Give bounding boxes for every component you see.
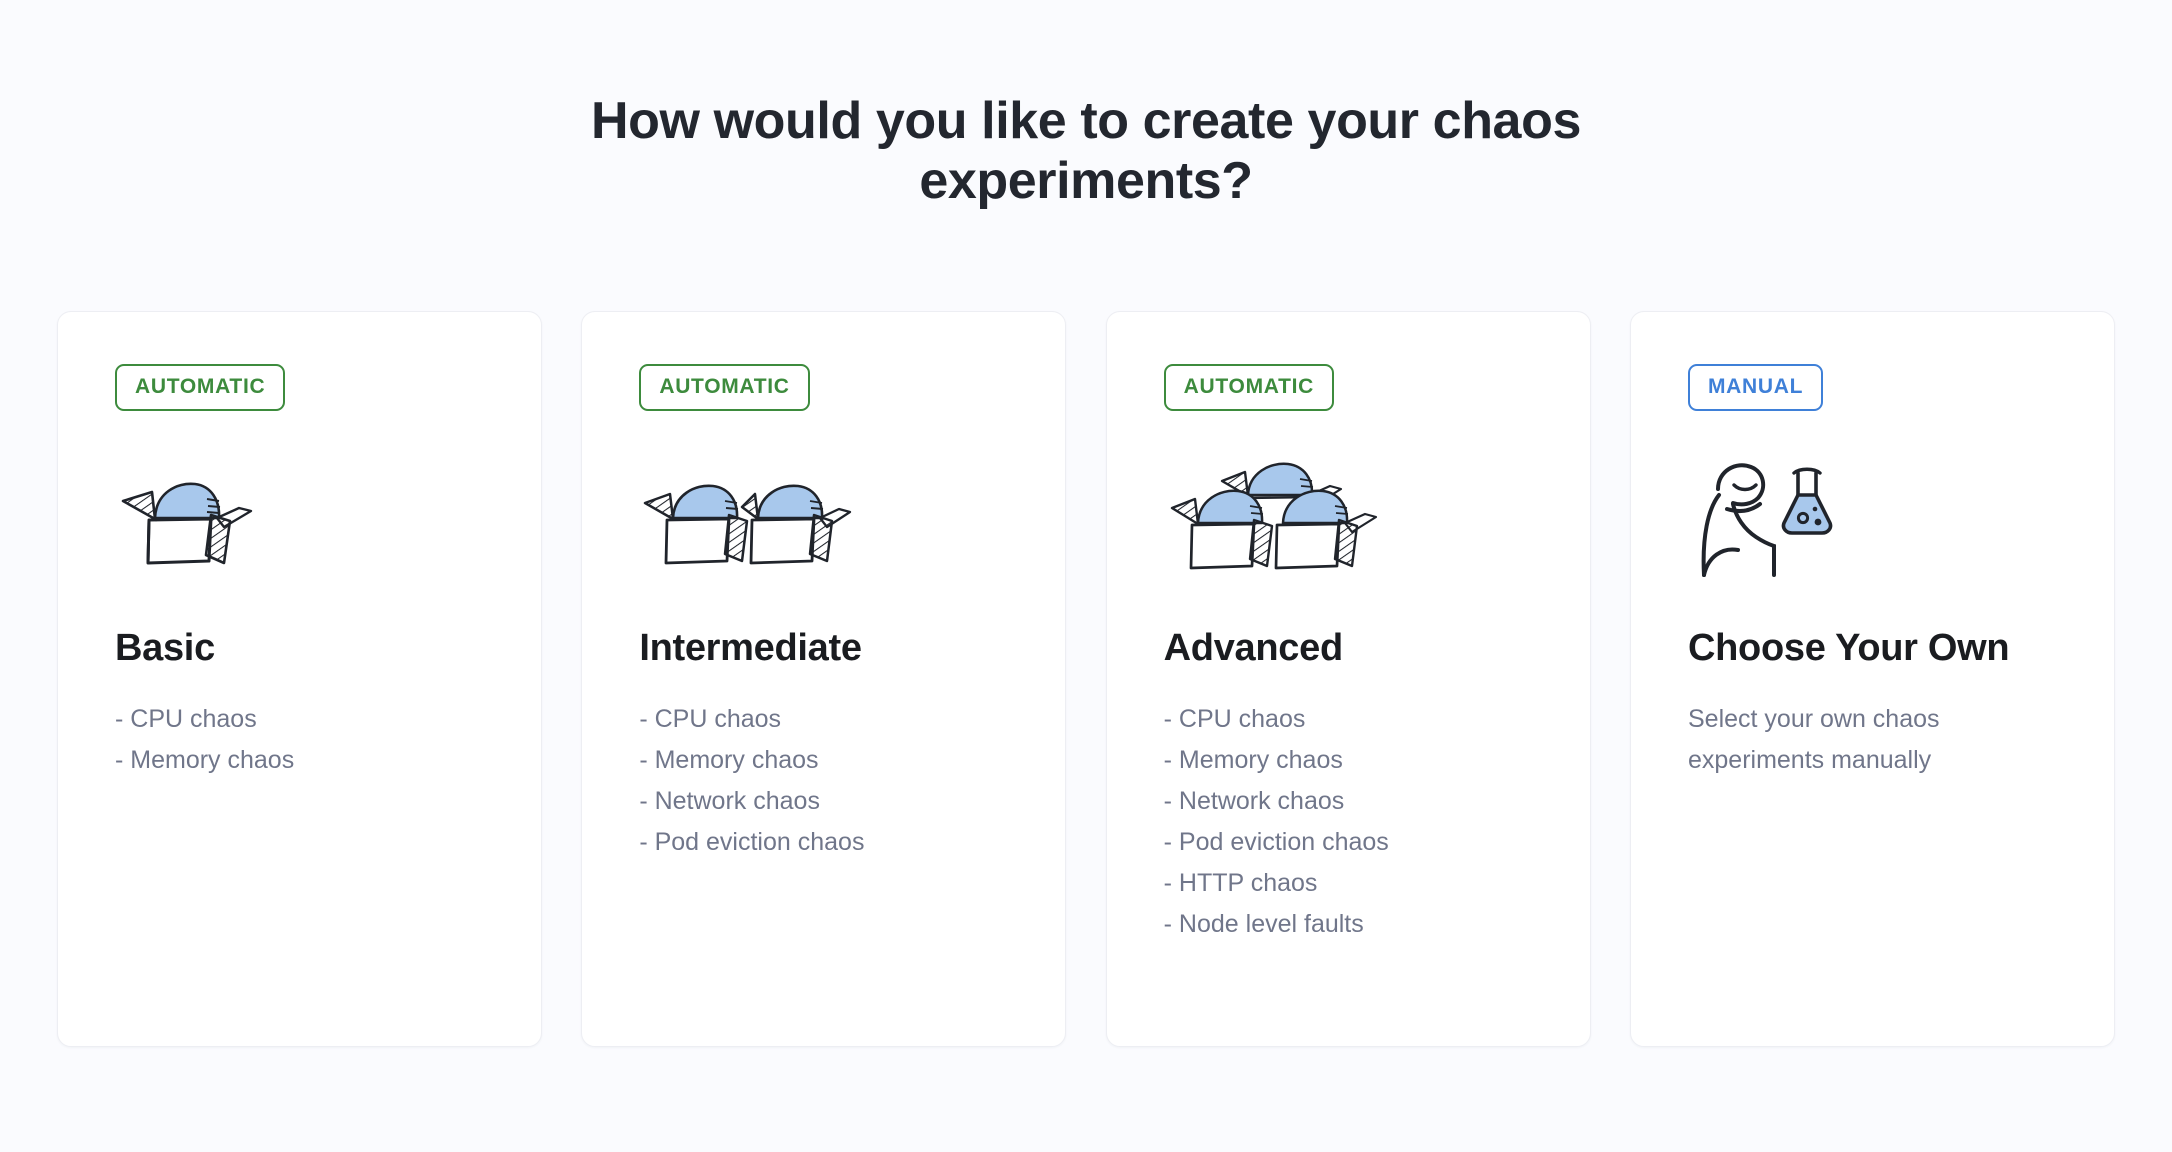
- list-item: - CPU chaos: [115, 699, 484, 740]
- card-title: Intermediate: [639, 627, 1008, 670]
- status-badge: MANUAL: [1688, 364, 1823, 411]
- card-title: Basic: [115, 627, 484, 670]
- card-description: Select your own chaos experiments manual…: [1688, 699, 2028, 781]
- status-badge: AUTOMATIC: [1164, 364, 1334, 411]
- list-item: - Pod eviction chaos: [1164, 822, 1533, 863]
- card-title: Advanced: [1164, 627, 1533, 670]
- status-badge: AUTOMATIC: [639, 364, 809, 411]
- list-item: - Pod eviction chaos: [639, 822, 1008, 863]
- card-title: Choose Your Own: [1688, 627, 2057, 670]
- create-experiment-chooser-page: How would you like to create your chaos …: [0, 0, 2172, 1152]
- preset-card-basic[interactable]: AUTOMATIC: [57, 311, 542, 1047]
- page-title: How would you like to create your chaos …: [586, 92, 1586, 212]
- feature-list: - CPU chaos - Memory chaos - Network cha…: [1164, 699, 1533, 945]
- list-item: - CPU chaos: [639, 699, 1008, 740]
- list-item: - HTTP chaos: [1164, 863, 1533, 904]
- list-item: - Memory chaos: [639, 740, 1008, 781]
- preset-card-intermediate[interactable]: AUTOMATIC: [581, 311, 1066, 1047]
- list-item: - CPU chaos: [1164, 699, 1533, 740]
- list-item: - Network chaos: [1164, 781, 1533, 822]
- chaos-box-single-icon: [115, 451, 484, 583]
- list-item: - Network chaos: [639, 781, 1008, 822]
- list-item: - Memory chaos: [115, 740, 484, 781]
- experiment-preset-card-row: AUTOMATIC: [0, 311, 2172, 1047]
- preset-card-advanced[interactable]: AUTOMATIC: [1106, 311, 1591, 1047]
- status-badge: AUTOMATIC: [115, 364, 285, 411]
- list-item: - Memory chaos: [1164, 740, 1533, 781]
- feature-list: - CPU chaos - Memory chaos: [115, 699, 484, 781]
- list-item: - Node level faults: [1164, 904, 1533, 945]
- chaos-box-triple-icon: [1164, 451, 1533, 583]
- scientist-flask-icon: [1688, 451, 2057, 583]
- chaos-box-double-icon: [639, 451, 1008, 583]
- feature-list: - CPU chaos - Memory chaos - Network cha…: [639, 699, 1008, 863]
- preset-card-choose-your-own[interactable]: MANUAL: [1630, 311, 2115, 1047]
